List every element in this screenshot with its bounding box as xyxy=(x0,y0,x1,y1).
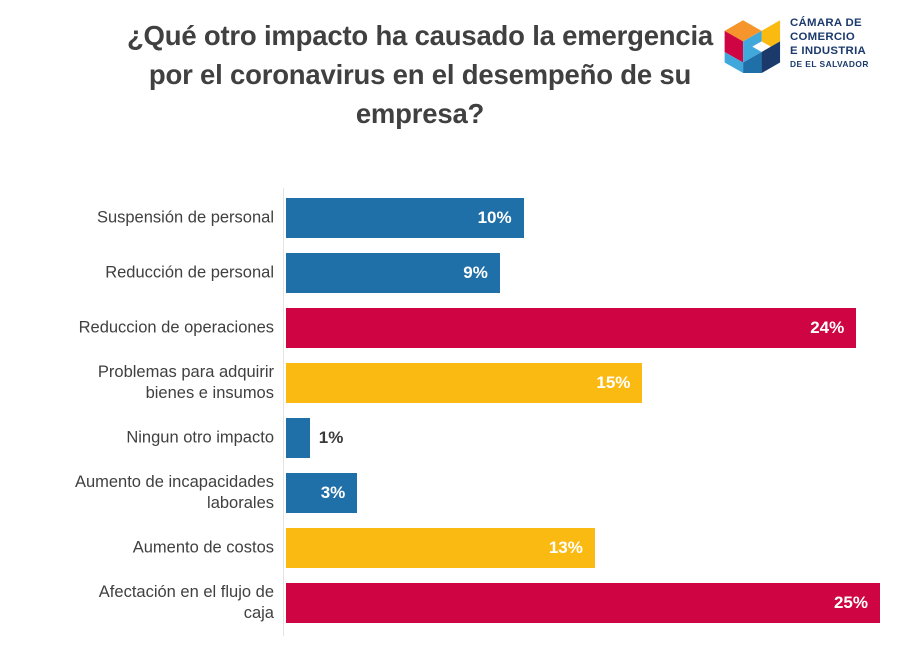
bar: 10% xyxy=(286,198,524,238)
bar-category-label: Ningun otro impacto xyxy=(14,427,274,448)
bar-value-label: 1% xyxy=(319,428,344,448)
bar-value-label: 13% xyxy=(549,538,583,558)
bar-row: Ningun otro impacto1% xyxy=(0,418,907,458)
bar-value-label: 3% xyxy=(321,483,346,503)
bar: 24% xyxy=(286,308,856,348)
bar-category-label: Afectación en el flujo de caja xyxy=(14,582,274,624)
bar-row: Problemas para adquirir bienes e insumos… xyxy=(0,363,907,403)
bar-category-label: Aumento de incapacidades laborales xyxy=(14,472,274,514)
bar-row: Afectación en el flujo de caja25% xyxy=(0,583,907,623)
bar-category-label: Suspensión de personal xyxy=(14,207,274,228)
bar: 3% xyxy=(286,473,357,513)
bar-row: Reducción de personal9% xyxy=(0,253,907,293)
chart-header: ¿Qué otro impacto ha causado la emergenc… xyxy=(0,0,907,150)
chart-page: ¿Qué otro impacto ha causado la emergenc… xyxy=(0,0,907,660)
bar-value-label: 24% xyxy=(810,318,844,338)
bar-row: Aumento de costos13% xyxy=(0,528,907,568)
bar: 1% xyxy=(286,418,310,458)
bar-value-label: 15% xyxy=(596,373,630,393)
bar-row: Reduccion de operaciones24% xyxy=(0,308,907,348)
bar: 9% xyxy=(286,253,500,293)
bar-value-label: 10% xyxy=(478,208,512,228)
logo-line-3: E INDUSTRIA xyxy=(790,44,886,58)
bar-category-label: Reducción de personal xyxy=(14,262,274,283)
logo-line-1: CÁMARA DE xyxy=(790,16,886,30)
bar-value-label: 25% xyxy=(834,593,868,613)
brand-logo: CÁMARA DE COMERCIO E INDUSTRIA DE EL SAL… xyxy=(718,12,886,82)
bar-value-label: 9% xyxy=(463,263,488,283)
bar-category-label: Problemas para adquirir bienes e insumos xyxy=(14,362,274,404)
bar: 13% xyxy=(286,528,595,568)
bar-chart-plot-area: Suspensión de personal10%Reducción de pe… xyxy=(0,150,907,660)
bar: 25% xyxy=(286,583,880,623)
cube-logo-icon xyxy=(720,13,786,79)
logo-line-4: DE EL SALVADOR xyxy=(790,59,886,69)
bar-category-label: Reduccion de operaciones xyxy=(14,317,274,338)
page-title: ¿Qué otro impacto ha causado la emergenc… xyxy=(120,16,720,133)
bar-row: Suspensión de personal10% xyxy=(0,198,907,238)
bar: 15% xyxy=(286,363,642,403)
bar-row: Aumento de incapacidades laborales3% xyxy=(0,473,907,513)
logo-line-2: COMERCIO xyxy=(790,30,886,44)
logo-wordmark: CÁMARA DE COMERCIO E INDUSTRIA DE EL SAL… xyxy=(790,16,886,69)
bar-category-label: Aumento de costos xyxy=(14,537,274,558)
